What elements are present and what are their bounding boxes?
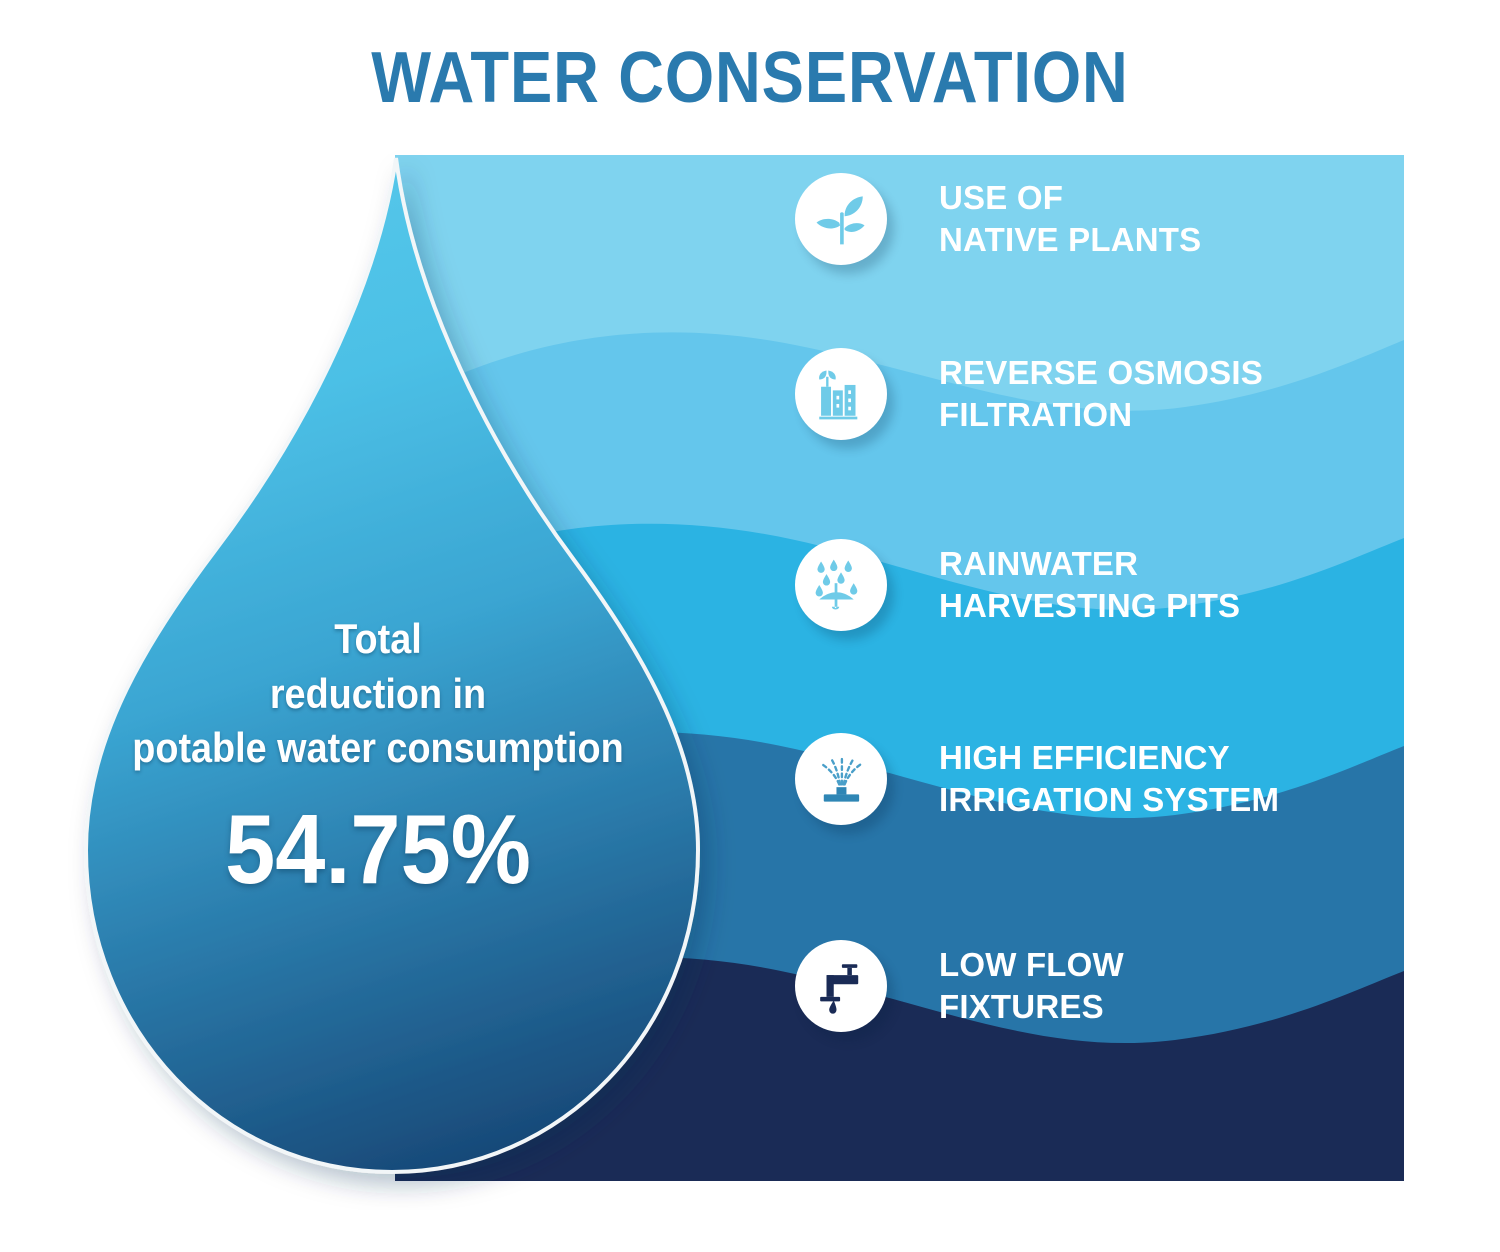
- feature-list: USE OF NATIVE PLANTS: [795, 155, 1415, 1181]
- feature-item-native-plants[interactable]: USE OF NATIVE PLANTS: [795, 173, 1201, 265]
- feature-item-rainwater-harvesting[interactable]: RAINWATER HARVESTING PITS: [795, 539, 1240, 631]
- infographic-canvas: WATER CONSERVATION: [0, 0, 1500, 1252]
- feature-label-line2: FILTRATION: [939, 396, 1132, 433]
- faucet-drop-icon: [795, 940, 887, 1032]
- feature-label: HIGH EFFICIENCY IRRIGATION SYSTEM: [939, 737, 1279, 820]
- feature-label-line1: REVERSE OSMOSIS: [939, 354, 1263, 391]
- feature-label: REVERSE OSMOSIS FILTRATION: [939, 352, 1263, 435]
- feature-label: RAINWATER HARVESTING PITS: [939, 543, 1240, 626]
- feature-item-reverse-osmosis[interactable]: REVERSE OSMOSIS FILTRATION: [795, 348, 1263, 440]
- feature-label-line1: LOW FLOW: [939, 946, 1124, 983]
- feature-label-line2: HARVESTING PITS: [939, 587, 1240, 624]
- feature-label: LOW FLOW FIXTURES: [939, 944, 1124, 1027]
- feature-label: USE OF NATIVE PLANTS: [939, 177, 1201, 260]
- feature-item-low-flow[interactable]: LOW FLOW FIXTURES: [795, 940, 1124, 1032]
- sprinkler-icon: [795, 733, 887, 825]
- umbrella-rain-icon: [795, 539, 887, 631]
- filtration-plant-icon: [795, 348, 887, 440]
- feature-label-line1: HIGH EFFICIENCY: [939, 739, 1230, 776]
- feature-label-line2: NATIVE PLANTS: [939, 221, 1201, 258]
- feature-label-line1: RAINWATER: [939, 545, 1138, 582]
- feature-label-line2: IRRIGATION SYSTEM: [939, 781, 1279, 818]
- feature-label-line1: USE OF: [939, 179, 1063, 216]
- water-droplet: [62, 150, 742, 1210]
- plant-sprout-icon: [795, 173, 887, 265]
- page-title: WATER CONSERVATION: [90, 42, 1410, 114]
- droplet-shape: [86, 158, 698, 1172]
- feature-label-line2: FIXTURES: [939, 988, 1104, 1025]
- feature-item-irrigation[interactable]: HIGH EFFICIENCY IRRIGATION SYSTEM: [795, 733, 1279, 825]
